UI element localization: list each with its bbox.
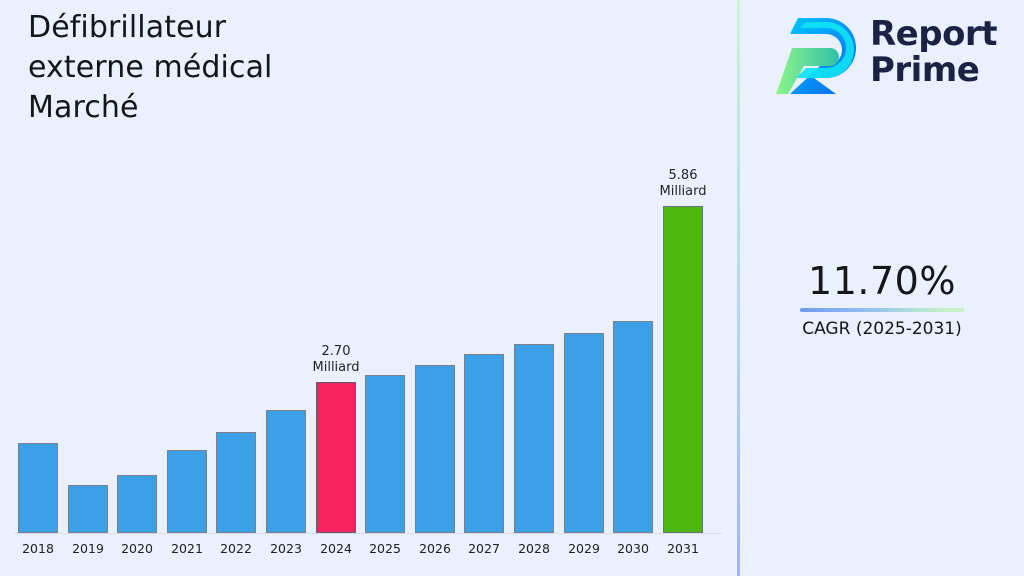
bar-chart: 2018201920202021202220232.70 Milliard202… <box>0 0 738 576</box>
brand-name: Report Prime <box>870 16 997 88</box>
bar-2029[interactable] <box>564 333 604 533</box>
bar-2031[interactable] <box>663 206 703 533</box>
bar-2019[interactable] <box>68 485 108 533</box>
bar-2018[interactable] <box>18 443 58 533</box>
bar-2027[interactable] <box>464 354 504 533</box>
cagr-caption: CAGR (2025-2031) <box>740 318 1024 340</box>
bar-value-label-2031: 5.86 Milliard <box>641 168 725 200</box>
chart-panel: Défibrillateur externe médical Marché 20… <box>0 0 738 576</box>
bar-2022[interactable] <box>216 432 256 533</box>
bar-2025[interactable] <box>365 375 405 533</box>
chart-page: Défibrillateur externe médical Marché 20… <box>0 0 1024 576</box>
bar-2026[interactable] <box>415 365 455 533</box>
cagr-value: 11.70% <box>740 258 1024 304</box>
info-panel: Report Prime 11.70% CAGR (2025-2031) <box>740 0 1024 576</box>
bar-series: 2018201920202021202220232.70 Milliard202… <box>0 0 738 576</box>
cagr-block: 11.70% CAGR (2025-2031) <box>740 258 1024 340</box>
bar-2024[interactable] <box>316 382 356 533</box>
x-tick-2031: 2031 <box>653 541 713 556</box>
cagr-divider <box>800 308 964 312</box>
report-prime-logo-mark-icon <box>776 12 862 94</box>
bar-2030[interactable] <box>613 321 653 533</box>
bar-2023[interactable] <box>266 410 306 533</box>
bar-2028[interactable] <box>514 344 554 533</box>
bar-2020[interactable] <box>117 475 157 533</box>
brand-logo: Report Prime <box>776 10 1006 96</box>
bar-2021[interactable] <box>167 450 207 533</box>
bar-value-label-2024: 2.70 Milliard <box>294 344 378 376</box>
